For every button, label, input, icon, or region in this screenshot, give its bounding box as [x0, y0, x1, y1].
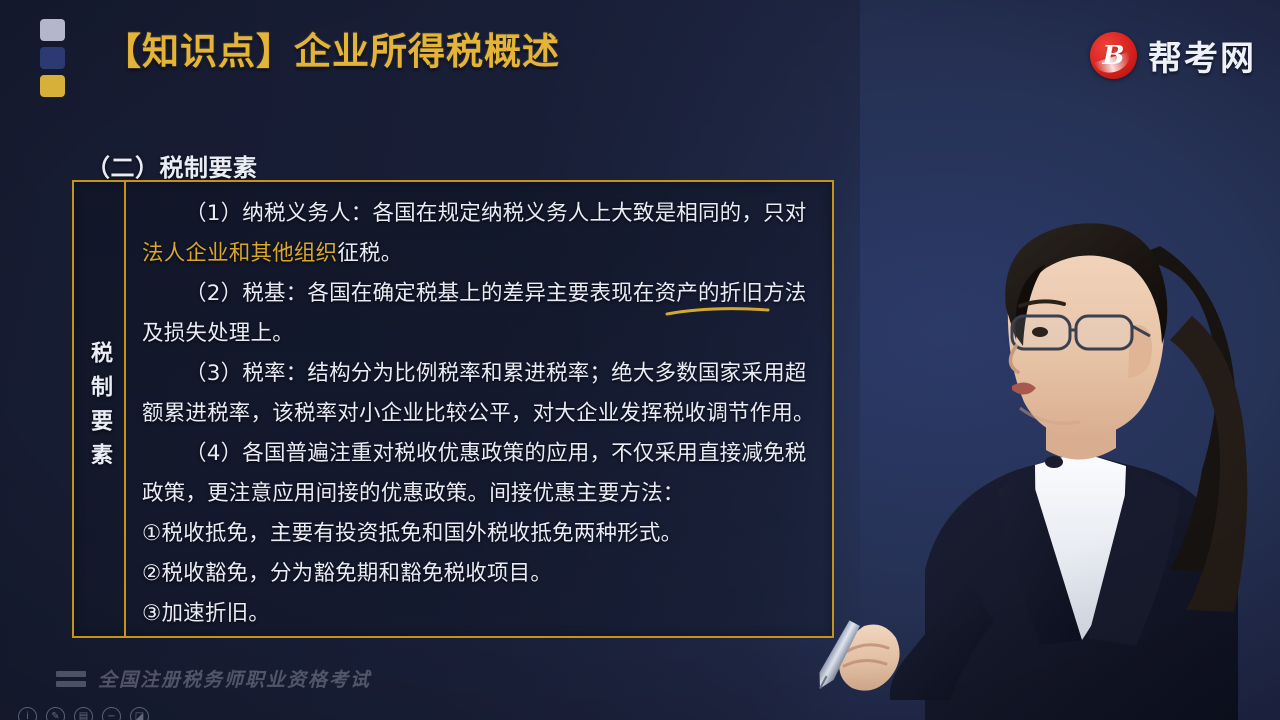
paragraph-text: （4）各国普遍注重对税收优惠政策的应用，不仅采用直接减免税政策，更注意应用间接的…	[142, 441, 806, 506]
paragraph-text: ①税收抵免，主要有投资抵免和国外税收抵免两种形式。	[142, 521, 682, 546]
edit-icon[interactable]: ✎	[46, 707, 65, 720]
minus-icon[interactable]: −	[102, 707, 121, 720]
brand-name: 帮考网	[1148, 31, 1256, 80]
content-paragraph: ③加速折旧。	[142, 594, 818, 634]
capture-icon[interactable]: ◪	[130, 707, 149, 720]
content-paragraph: ②税收豁免，分为豁免期和豁免税收项目。	[142, 554, 818, 594]
footer-watermark: 全国注册税务师职业资格考试	[56, 665, 371, 692]
highlighted-text: 法人企业和其他组织	[142, 241, 337, 266]
presenter-figure	[830, 140, 1280, 720]
content-paragraphs: （1）纳税义务人：各国在规定纳税义务人上大致是相同的，只对法人企业和其他组织征税…	[126, 182, 832, 636]
paragraph-text: 征税。	[337, 241, 402, 266]
slide-header: 【知识点】企业所得税概述 B 帮考网	[0, 0, 1280, 108]
row-label-cell: 税制要素	[74, 182, 126, 636]
page-title: 【知识点】企业所得税概述	[104, 24, 560, 80]
paragraph-text: （3）税率：结构分为比例税率和累进税率；绝大多数国家采用超额累进税率，该税率对小…	[142, 361, 815, 426]
mark-blue-icon	[40, 47, 65, 69]
content-paragraph: （3）税率：结构分为比例税率和累进税率；绝大多数国家采用超额累进税率，该税率对小…	[142, 354, 818, 434]
paragraph-text: （2）税基：各国在确定税基上的差异主要表现在资产的折旧方法及损失处理上。	[142, 281, 806, 346]
accent-marks	[40, 19, 68, 97]
paragraph-text: ②税收豁免，分为豁免期和豁免税收项目。	[142, 561, 552, 586]
row-label-text: 税制要素	[88, 341, 110, 477]
content-paragraph: （2）税基：各国在确定税基上的差异主要表现在资产的折旧方法及损失处理上。	[142, 274, 818, 354]
brand-logo: B 帮考网	[1090, 31, 1256, 80]
watermark-text: 全国注册税务师职业资格考试	[98, 665, 371, 692]
content-paragraph: ①税收抵免，主要有投资抵免和国外税收抵免两种形式。	[142, 514, 818, 554]
section-heading: （二）税制要素	[86, 148, 258, 183]
content-box: 税制要素 （1）纳税义务人：各国在规定纳税义务人上大致是相同的，只对法人企业和其…	[72, 180, 834, 638]
paragraph-text: ③加速折旧。	[142, 601, 270, 626]
paragraph-text: （1）纳税义务人：各国在规定纳税义务人上大致是相同的，只对	[185, 201, 806, 226]
mark-light-icon	[40, 19, 65, 41]
player-icon-row[interactable]: i ✎ ▤ − ◪	[18, 707, 149, 720]
content-paragraph: （1）纳税义务人：各国在规定纳税义务人上大致是相同的，只对法人企业和其他组织征税…	[142, 194, 818, 274]
mark-gold-icon	[40, 75, 65, 97]
brand-badge-icon: B	[1090, 32, 1137, 79]
watermark-bars-icon	[56, 671, 86, 687]
content-paragraph: （4）各国普遍注重对税收优惠政策的应用，不仅采用直接减免税政策，更注意应用间接的…	[142, 434, 818, 514]
info-icon[interactable]: i	[18, 707, 37, 720]
note-icon[interactable]: ▤	[74, 707, 93, 720]
